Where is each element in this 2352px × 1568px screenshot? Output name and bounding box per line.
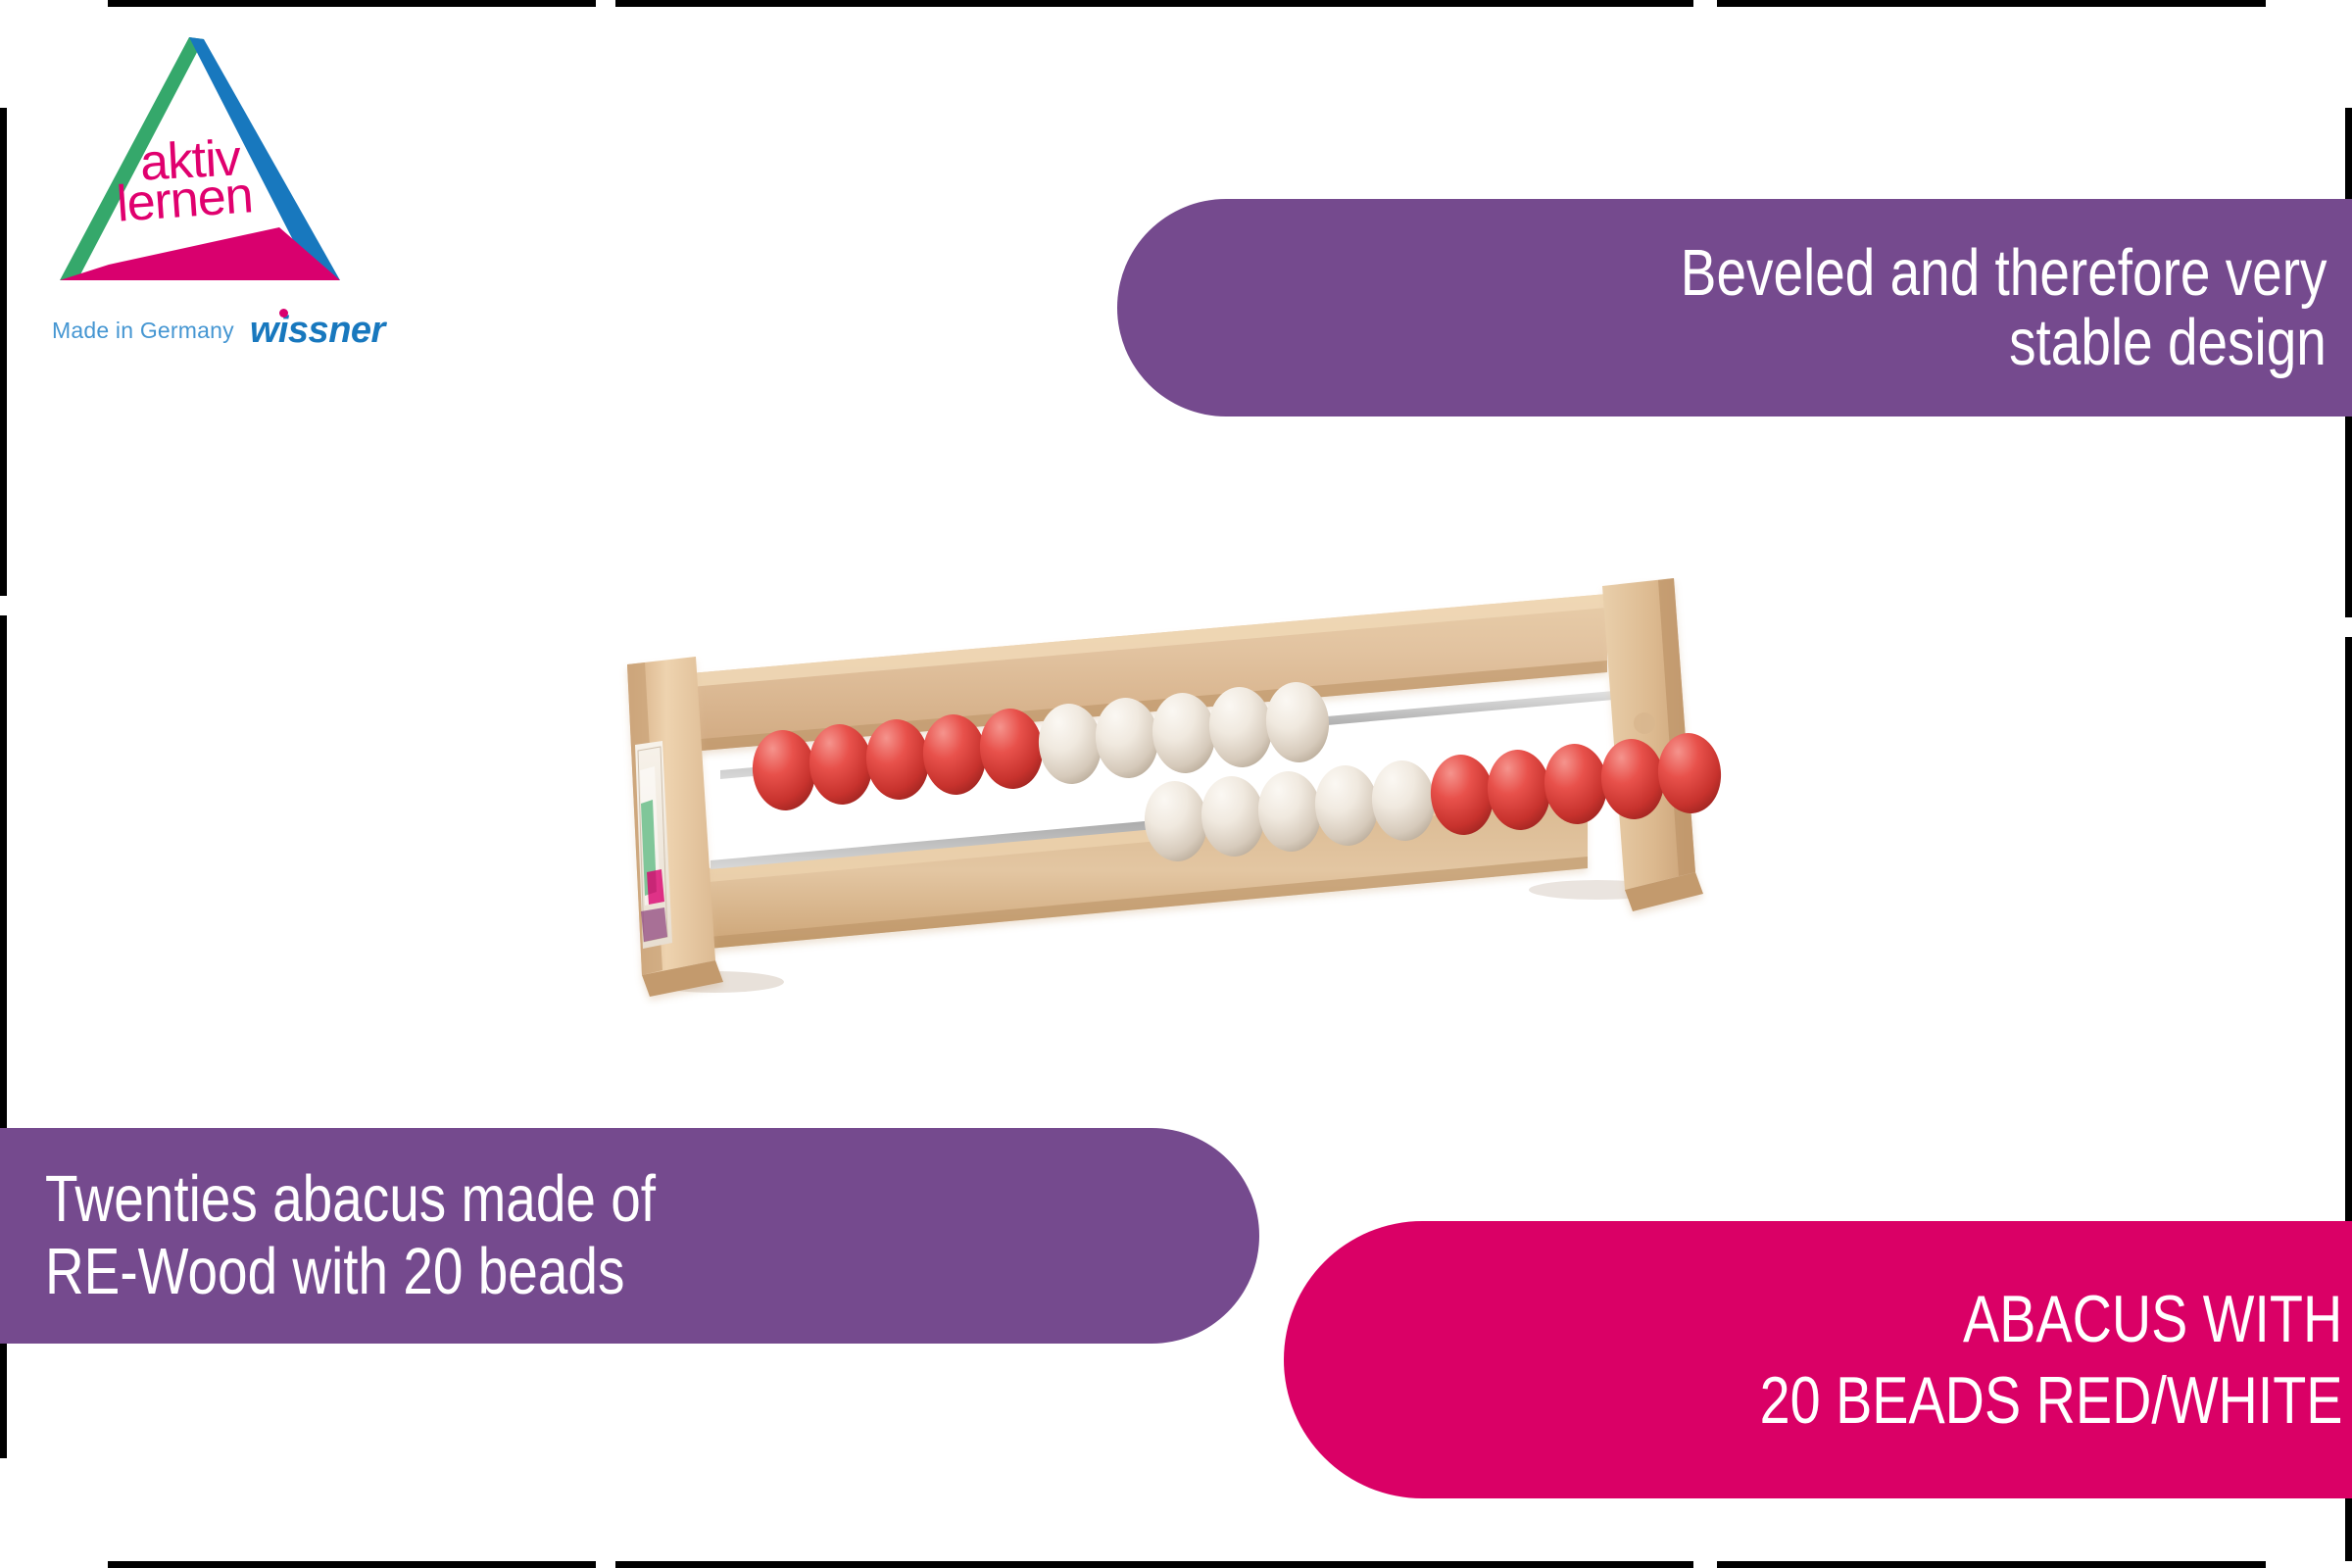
border-mark-top-2 <box>615 0 1693 7</box>
logo-word-lernen: lernen <box>115 170 254 230</box>
product-title-line-1: ABACUS WITH <box>1963 1279 2342 1360</box>
feature-banner-line-1: Beveled and therefore very <box>1680 238 2327 308</box>
product-image-abacus <box>470 578 1921 1088</box>
border-mark-bottom-1 <box>108 1561 596 1568</box>
product-title-banner: ABACUS WITH 20 BEADS RED/WHITE <box>1284 1221 2352 1498</box>
wissner-wordmark: wissner <box>250 312 385 349</box>
border-mark-top-3 <box>1717 0 2266 7</box>
border-mark-bottom-3 <box>1717 1561 2266 1568</box>
brand-logo: aktiv lernen Made in Germany wissner <box>44 18 416 390</box>
product-title-line-2: 20 BEADS RED/WHITE <box>1759 1360 2342 1442</box>
feature-banner-line-2: stable design <box>2009 308 2327 377</box>
border-mark-right-2 <box>2345 637 2352 1225</box>
wissner-i-dot-icon <box>279 309 288 318</box>
description-banner: Twenties abacus made of RE-Wood with 20 … <box>0 1128 1259 1344</box>
poster-canvas: aktiv lernen Made in Germany wissner Bev… <box>0 0 2352 1568</box>
made-in-germany-label: Made in Germany <box>52 318 234 344</box>
border-mark-left-1 <box>0 108 7 596</box>
description-banner-line-2: RE-Wood with 20 beads <box>45 1236 624 1308</box>
wissner-text: wissner <box>250 310 385 351</box>
border-mark-top-1 <box>108 0 596 7</box>
description-banner-line-1: Twenties abacus made of <box>45 1163 656 1236</box>
border-mark-bottom-2 <box>615 1561 1693 1568</box>
feature-banner: Beveled and therefore very stable design <box>1117 199 2352 416</box>
